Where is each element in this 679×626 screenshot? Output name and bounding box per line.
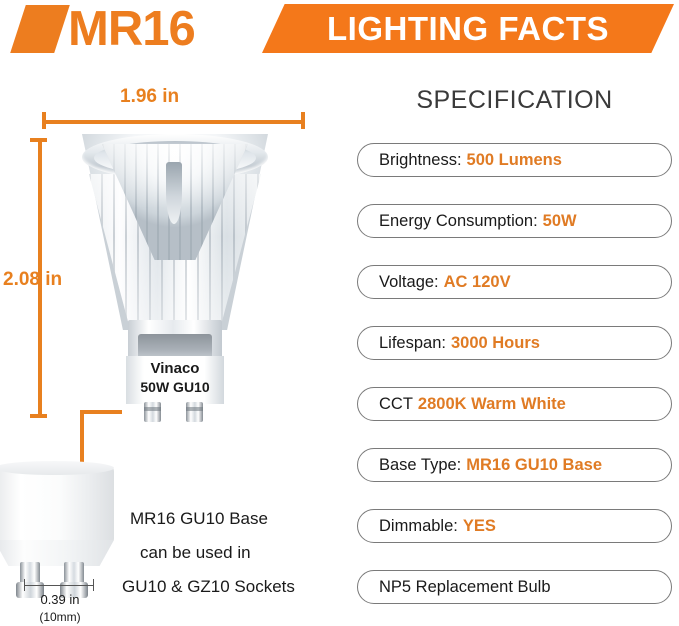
spec-row-text: Brightness:500 Lumens [358,151,562,170]
accent-slash-shape [10,5,70,53]
spec-row-key: Dimmable: [379,517,458,536]
spec-row-key: CCT [379,395,413,414]
height-dimension-line [38,138,42,418]
pin-spacing-cap-left [24,579,25,591]
spec-row-key: Energy Consumption: [379,212,538,231]
base-tapered-bottom [0,540,114,566]
spec-row-value: AC 120V [444,273,511,292]
bulb-gu10-pin-right [186,402,203,422]
base-caption-line-3: GU10 & GZ10 Sockets [122,577,295,597]
spec-row-text: NP5 Replacement Bulb [358,578,551,597]
spec-row-value: 3000 Hours [451,334,540,353]
pin-spacing-mm-label: (10mm) [10,610,110,624]
spec-row-text: Energy Consumption:50W [358,212,577,231]
base-caption-line-1: MR16 GU10 Base [130,509,268,529]
width-dimension-line [42,120,305,124]
base-top-ellipse [0,461,114,475]
height-dimension-cap-bottom [30,414,47,418]
spec-row: Dimmable:YES [357,509,672,543]
specification-heading: SPECIFICATION [350,86,679,115]
width-dimension-cap-left [42,112,46,129]
spec-row-key: Brightness: [379,151,462,170]
spec-row-key: NP5 Replacement Bulb [379,578,551,597]
mr16-bulb-illustration: Vinaco 50W GU10 [82,134,268,424]
gu10-base-illustration [0,466,114,596]
spec-row-value: YES [463,517,496,536]
base-caption-line-2: can be used in [140,543,251,563]
spec-row-value: 2800K Warm White [418,395,566,414]
spec-row-value: 500 Lumens [467,151,562,170]
spec-row: NP5 Replacement Bulb [357,570,672,604]
product-code-title: MR16 [68,0,195,60]
height-dimension-label: 2.08 in [3,269,62,291]
spec-row-text: Dimmable:YES [358,517,496,536]
spec-row-value: MR16 GU10 Base [466,456,602,475]
pin-spacing-cap-right [93,579,94,591]
spec-row: Brightness:500 Lumens [357,143,672,177]
bulb-brand-name: Vinaco [126,360,224,377]
width-dimension-label: 1.96 in [120,86,179,108]
bulb-gu10-pin-left [144,402,161,422]
specification-panel: SPECIFICATION Brightness:500 LumensEnerg… [350,0,679,626]
spec-row-text: Voltage:AC 120V [358,273,511,292]
infographic-page: MR16 LIGHTING FACTS 1.96 in 2.08 in [0,0,679,626]
spec-row-text: Lifespan:3000 Hours [358,334,540,353]
pin-spacing-dimension-line [24,585,94,586]
product-diagram-panel: 1.96 in 2.08 in Vinaco 50W GU1 [0,62,350,626]
bulb-filament-capsule [166,162,182,224]
spec-row: Base Type:MR16 GU10 Base [357,448,672,482]
spec-row: Voltage:AC 120V [357,265,672,299]
spec-row: Lifespan:3000 Hours [357,326,672,360]
spec-row-value: 50W [543,212,577,231]
spec-row: CCT2800K Warm White [357,387,672,421]
spec-row-key: Voltage: [379,273,439,292]
spec-row-key: Base Type: [379,456,461,475]
spec-row-text: CCT2800K Warm White [358,395,566,414]
spec-row-text: Base Type:MR16 GU10 Base [358,456,602,475]
pin-spacing-inches-label: 0.39 in [10,592,110,607]
base-cylinder-body [0,466,114,542]
bulb-wattage-label: 50W GU10 [126,379,224,395]
height-dimension-cap-top [30,138,47,142]
spec-row-key: Lifespan: [379,334,446,353]
spec-row: Energy Consumption:50W [357,204,672,238]
width-dimension-cap-right [301,112,305,129]
